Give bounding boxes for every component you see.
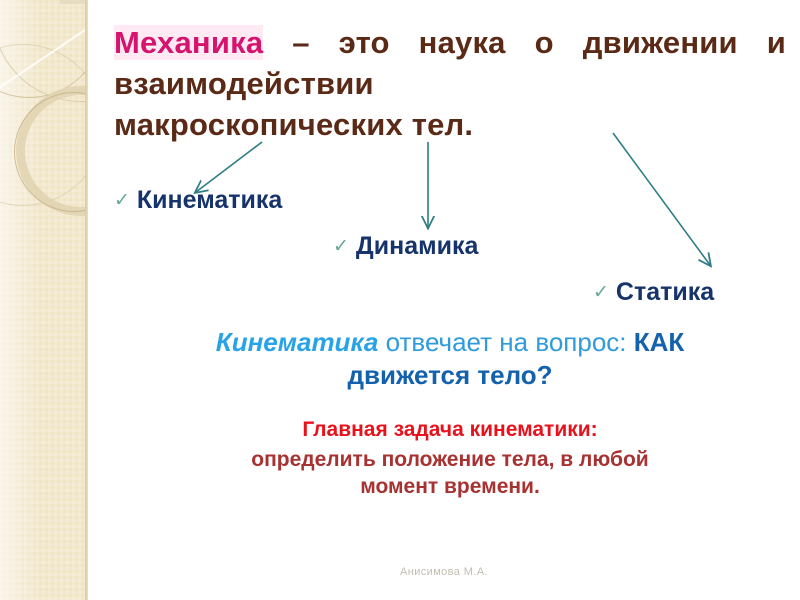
checkmark-icon: ✓: [593, 282, 609, 303]
slide-footer-author: Анисимова М.А.: [88, 566, 800, 578]
bullet-label-kinematika: Кинематика: [137, 186, 282, 214]
title-highlight-word: Механика: [114, 25, 263, 60]
task-body-line2: момент времени.: [114, 474, 786, 500]
title-line3: макроскопических тел.: [114, 104, 786, 145]
question-block: Кинематика отвечает на вопрос: КАК движе…: [114, 326, 786, 392]
bullet-label-statika: Статика: [616, 278, 714, 306]
question-middle-text: отвечает на вопрос:: [378, 327, 633, 357]
decorative-top-notch: [60, 0, 88, 4]
title-line1-rest: – это наука о: [263, 25, 553, 60]
task-body-line1: определить положение тела, в любой: [114, 447, 786, 473]
bullet-label-dinamika: Динамика: [356, 232, 478, 260]
question-second-line: движется тело?: [114, 359, 786, 392]
question-emphasis-word: Кинематика: [216, 327, 379, 357]
task-heading: Главная задача кинематики:: [114, 417, 786, 443]
task-block: Главная задача кинематики: определить по…: [114, 417, 786, 500]
bullet-item-kinematika: ✓Кинематика: [114, 186, 282, 215]
slide-content: Механика – это наука о движении и взаимо…: [88, 0, 800, 600]
slide-title: Механика – это наука о движении и взаимо…: [114, 22, 786, 146]
bullet-item-dinamika: ✓Динамика: [333, 232, 478, 261]
checkmark-icon: ✓: [333, 236, 349, 257]
checkmark-icon: ✓: [114, 190, 130, 211]
question-answer-word: КАК: [634, 327, 685, 357]
decorative-sidebar-panel: [0, 0, 88, 600]
bullet-item-statika: ✓Статика: [593, 278, 714, 307]
presentation-slide: Механика – это наука о движении и взаимо…: [0, 0, 800, 600]
